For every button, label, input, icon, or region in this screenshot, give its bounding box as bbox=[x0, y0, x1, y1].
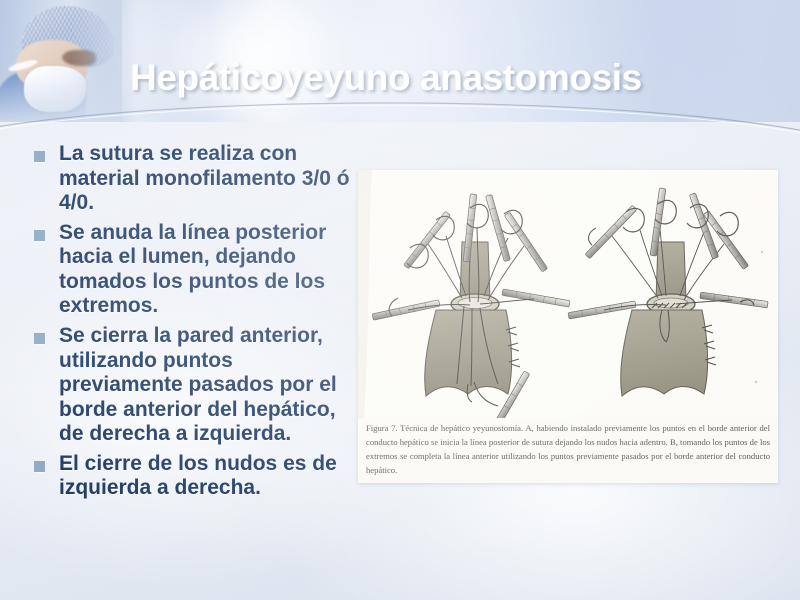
slide-title: Hepáticoyeyuno anastomosis bbox=[130, 57, 780, 99]
figure-panel: Figura 7. Técnica de hepático yeyunostom… bbox=[358, 170, 778, 483]
bullet-text: Se anuda la línea posterior hacia el lum… bbox=[59, 221, 350, 319]
figure-caption: Figura 7. Técnica de hepático yeyunostom… bbox=[366, 422, 770, 478]
eye-shadow-shape bbox=[62, 50, 96, 66]
bullet-text: El cierre de los nudos es de izquierda a… bbox=[59, 452, 350, 501]
list-item: El cierre de los nudos es de izquierda a… bbox=[28, 452, 350, 501]
bullet-list: La sutura se realiza con material monofi… bbox=[28, 142, 350, 506]
square-bullet-icon bbox=[34, 230, 45, 241]
surgeon-photo bbox=[0, 0, 122, 122]
hepaticojejunostomy-illustration bbox=[358, 170, 778, 418]
bullet-text: La sutura se realiza con material monofi… bbox=[59, 142, 350, 216]
square-bullet-icon bbox=[34, 333, 45, 344]
bullet-text: Se cierra la pared anterior, utilizando … bbox=[59, 324, 350, 447]
surgical-mask-shape bbox=[24, 66, 86, 112]
presentation-slide: Hepáticoyeyuno anastomosis La sutura se … bbox=[0, 0, 800, 600]
square-bullet-icon bbox=[34, 151, 45, 162]
list-item: La sutura se realiza con material monofi… bbox=[28, 142, 350, 216]
list-item: Se cierra la pared anterior, utilizando … bbox=[28, 324, 350, 447]
square-bullet-icon bbox=[34, 461, 45, 472]
list-item: Se anuda la línea posterior hacia el lum… bbox=[28, 221, 350, 319]
